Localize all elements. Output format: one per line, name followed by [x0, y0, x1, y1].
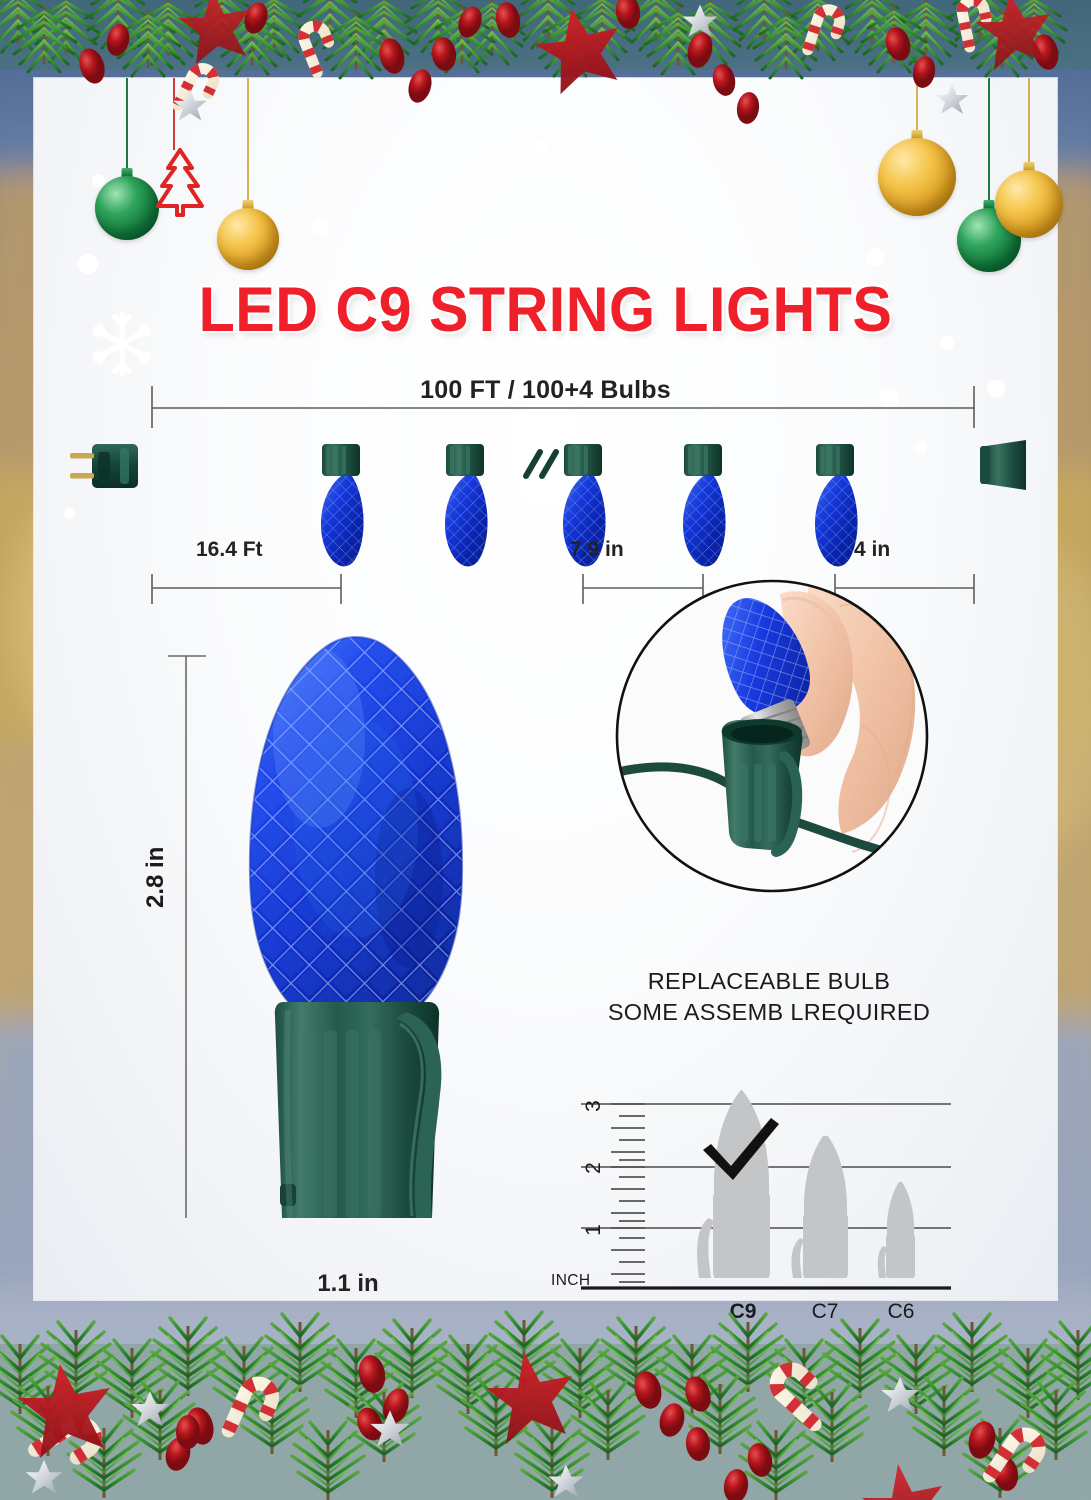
bulb-2 [445, 444, 488, 566]
ruler-tick-3: 3 [582, 1093, 606, 1119]
bulb-detail-illustration [144, 578, 574, 1218]
product-infographic: LED C9 STRING LIGHTS [0, 0, 1091, 1500]
end-cap-icon [980, 440, 1026, 490]
content-card: LED C9 STRING LIGHTS [34, 78, 1057, 1300]
ruler-tick-2: 2 [582, 1155, 606, 1181]
ruler-unit-label: INCH [551, 1272, 591, 1290]
dimension-label-spacing: 7.9 in [570, 538, 624, 562]
caption-line-1: REPLACEABLE BULB [509, 966, 1029, 997]
size-label-c9: C9 [709, 1300, 777, 1324]
bulb-silhouette-c7 [791, 1136, 848, 1278]
ruler-tick-1: 1 [582, 1217, 606, 1243]
dimension-label-lead: 16.4 Ft [196, 538, 263, 562]
bulb-silhouette-c6 [878, 1182, 915, 1278]
replaceable-bulb-inset [612, 576, 932, 896]
bulb-1 [321, 444, 364, 566]
bulb-5 [815, 444, 858, 566]
break-marker-icon [526, 452, 556, 476]
size-label-c7: C7 [794, 1300, 856, 1324]
dimension-label-width: 1.1 in [222, 1270, 474, 1298]
socket-body [275, 1002, 442, 1218]
bulb-silhouette-c9 [697, 1090, 770, 1278]
size-comparison-chart: 3 2 1 INCH C9 C7 C6 [559, 1088, 959, 1333]
dimension-label-total: 100 FT / 100+4 Bulbs [34, 376, 1057, 405]
replaceable-caption: REPLACEABLE BULB SOME ASSEMB LREQUIRED [509, 966, 1029, 1029]
caption-line-2: SOME ASSEMB LREQUIRED [509, 997, 1029, 1028]
size-label-c6: C6 [871, 1300, 931, 1324]
dimension-label-tail: 4 in [854, 538, 890, 562]
plug-icon [70, 444, 138, 488]
socket [722, 719, 803, 852]
dimension-line-height [168, 656, 206, 1218]
bulb-4 [683, 444, 726, 566]
dimension-label-height: 2.8 in [142, 847, 170, 908]
